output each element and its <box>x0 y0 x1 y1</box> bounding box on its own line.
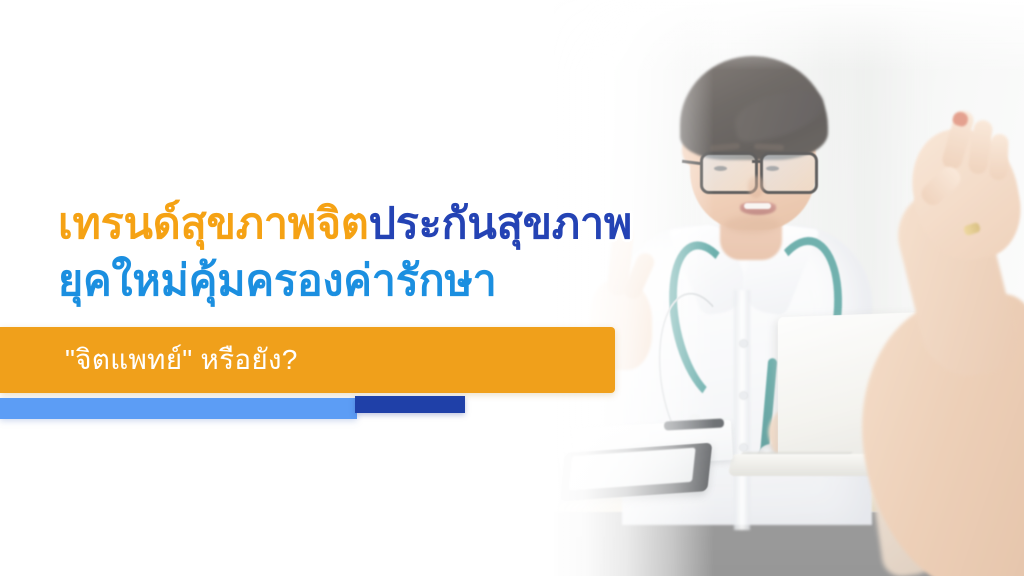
orange-highlight-band: "จิตแพทย์" หรือยัง? <box>0 327 615 393</box>
promotional-banner: เทรนด์สุขภาพจิตประกันสุขภาพ ยุคใหม่คุ้มค… <box>0 0 1024 576</box>
accent-bar-dark-blue <box>355 396 465 413</box>
orange-band-text: "จิตแพทย์" หรือยัง? <box>65 338 298 382</box>
headline-line-1-navy: ประกันสุขภาพ <box>369 200 632 248</box>
headline-line-1: เทรนด์สุขภาพจิตประกันสุขภาพ <box>58 196 632 253</box>
banner-content: เทรนด์สุขภาพจิตประกันสุขภาพ ยุคใหม่คุ้มค… <box>0 0 1024 576</box>
headline-line-2: ยุคใหม่คุ้มครองค่ารักษา <box>58 253 632 310</box>
headline-line-1-orange: เทรนด์สุขภาพจิต <box>58 200 369 248</box>
headline: เทรนด์สุขภาพจิตประกันสุขภาพ ยุคใหม่คุ้มค… <box>58 196 632 310</box>
accent-bar-light-blue <box>0 398 357 419</box>
